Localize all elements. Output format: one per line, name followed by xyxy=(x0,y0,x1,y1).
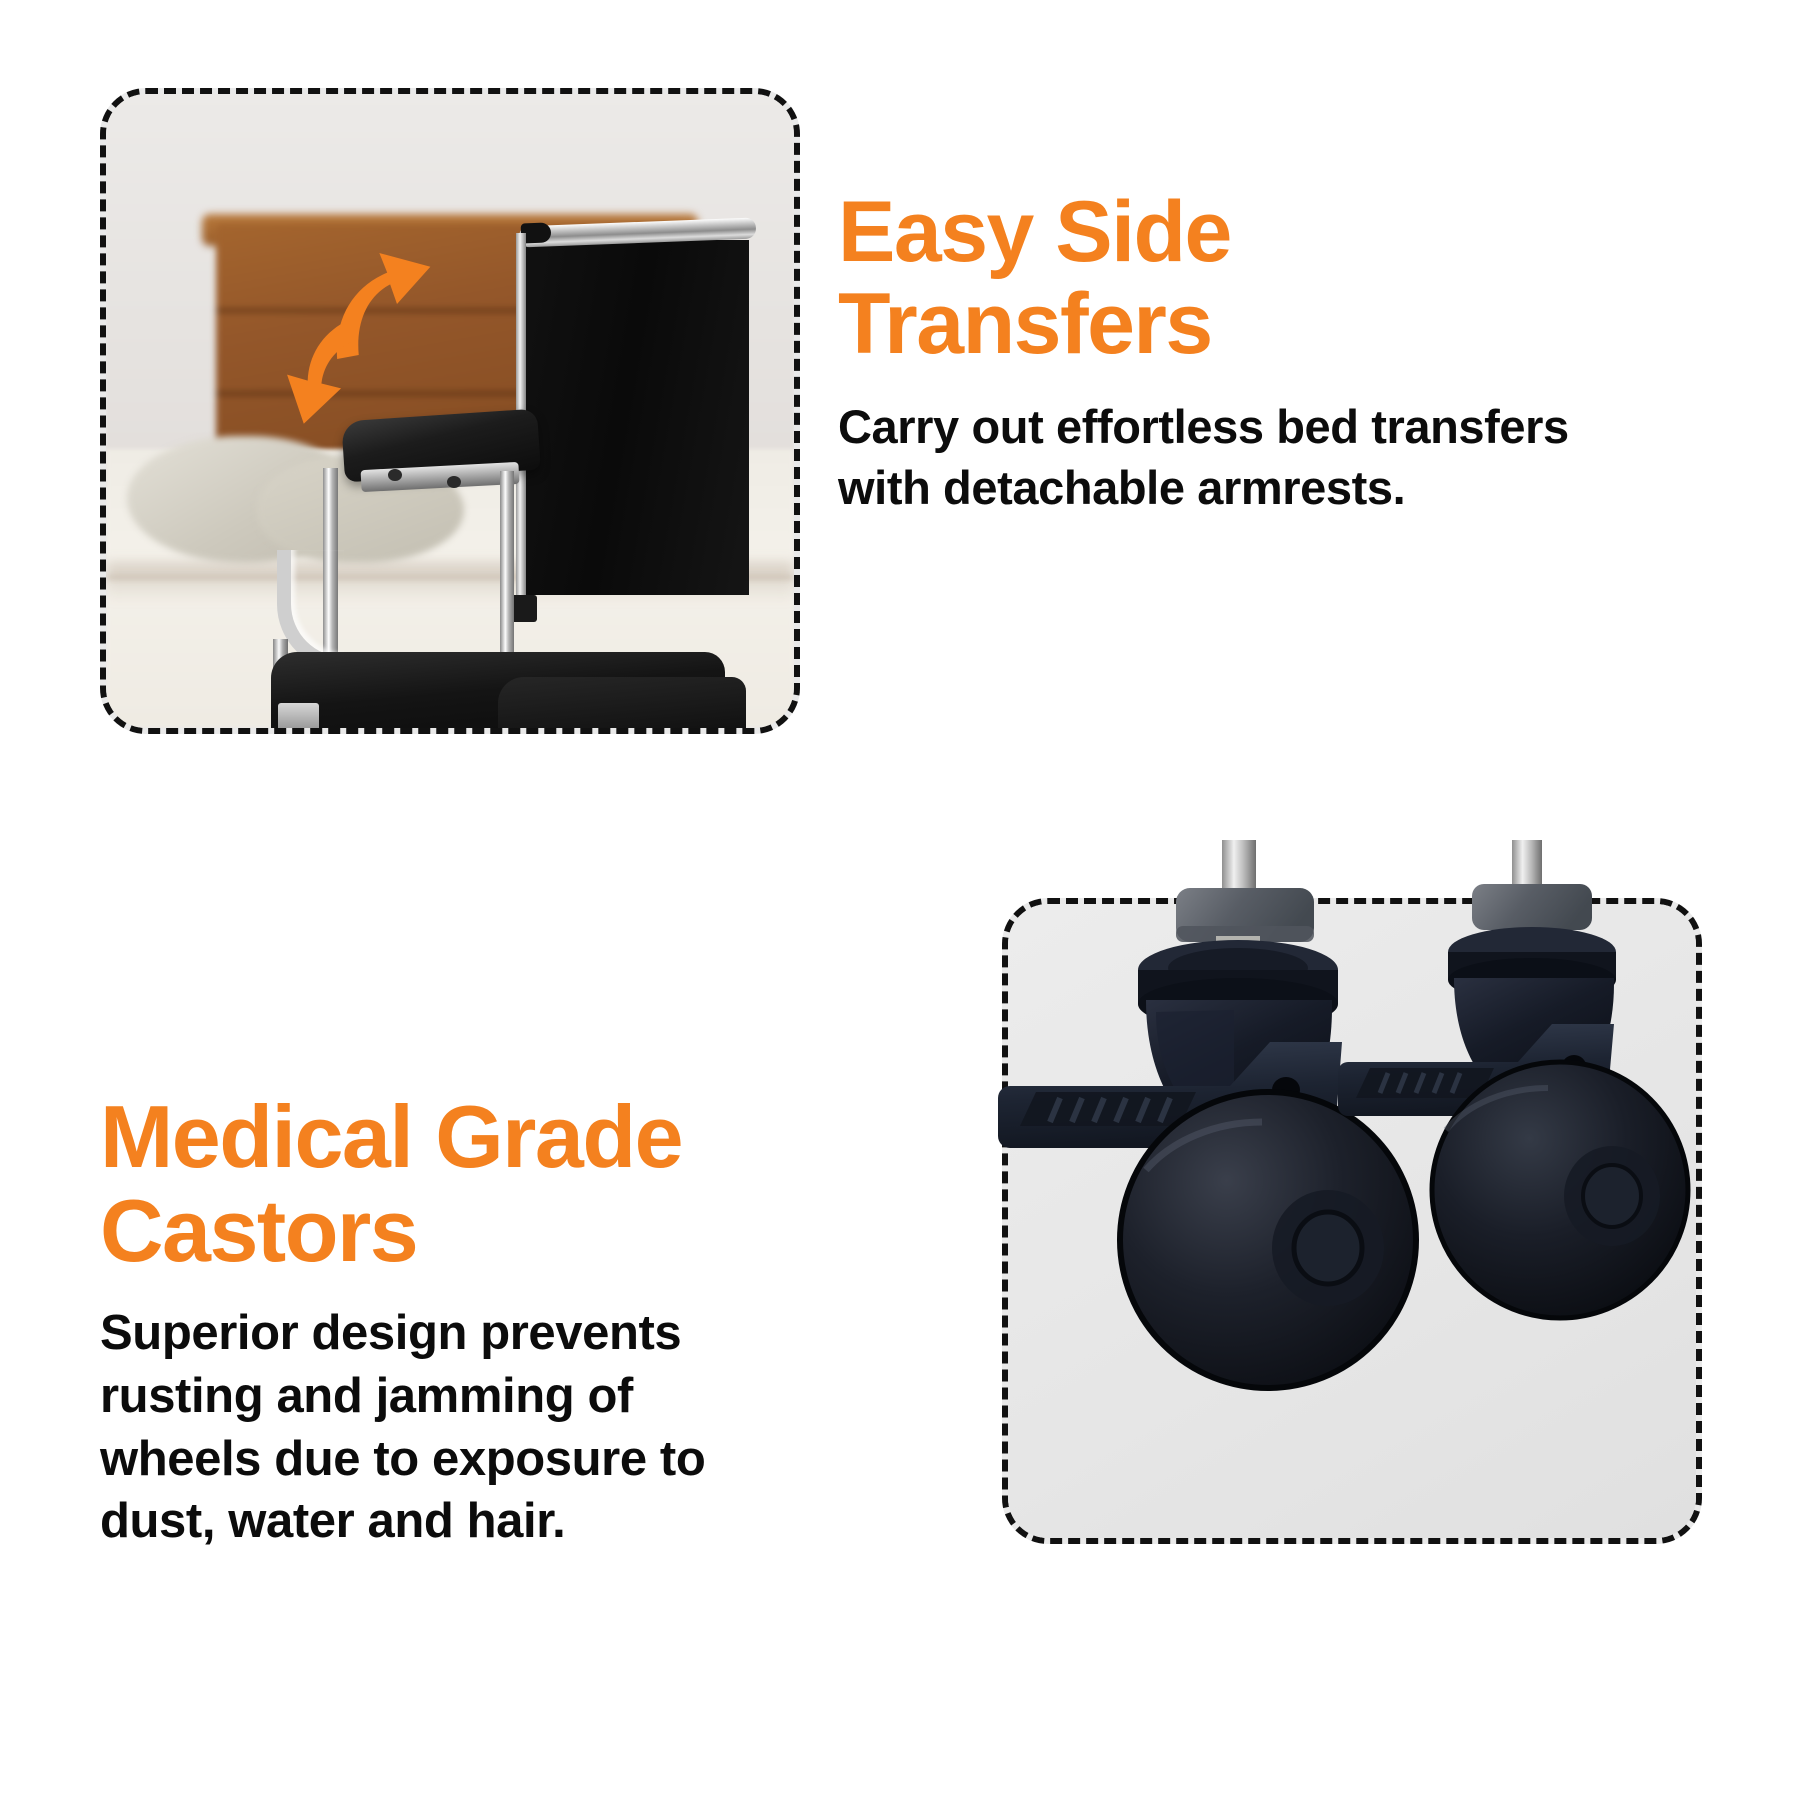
armrest-screw-rear xyxy=(447,476,461,488)
easy-side-transfers-body: Carry out effortless bed transfers with … xyxy=(838,396,1578,518)
infographic-canvas: Easy Side Transfers Carry out effortless… xyxy=(0,0,1800,1800)
wheelchair-backrest-panel xyxy=(522,240,749,595)
medical-grade-castors-body: Superior design prevents rusting and jam… xyxy=(100,1302,800,1553)
wheelchair-frame-bracket xyxy=(278,703,319,728)
armrest-photo-inner xyxy=(106,94,794,728)
castor-wheels-illustration xyxy=(976,840,1736,1560)
easy-side-transfers-heading: Easy Side Transfers xyxy=(838,186,1578,370)
wheelchair-seat-side xyxy=(498,677,746,728)
armrest-rear-post xyxy=(500,471,514,655)
wheelchair-armrest-bedside-photo xyxy=(100,88,800,734)
medical-grade-castors-heading: Medical Grade Castors xyxy=(100,1090,800,1278)
medical-grade-castors-text-block: Medical Grade Castors Superior design pr… xyxy=(100,1090,800,1553)
castor-grey-nut-rear xyxy=(1472,884,1592,930)
easy-side-transfers-text-block: Easy Side Transfers Carry out effortless… xyxy=(838,186,1578,518)
